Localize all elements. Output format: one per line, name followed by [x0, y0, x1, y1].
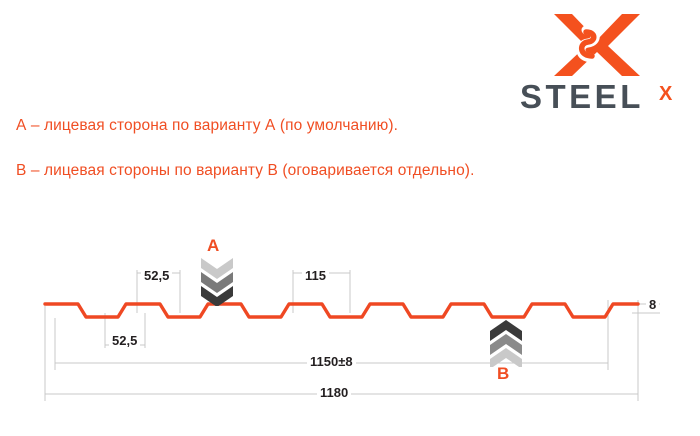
note-variant-a: А – лицевая сторона по варианту А (по ум… — [16, 117, 398, 135]
wordmark-superscript-x: X — [659, 83, 673, 105]
variant-b-letter: В — [497, 364, 509, 384]
note-variant-b: В – лицевая стороны по варианту В (огова… — [16, 162, 474, 180]
dimension-effective-width: 1150±8 — [307, 355, 356, 369]
steelx-wordmark: STEEL X — [520, 78, 688, 116]
brand-logo: STEEL X — [520, 12, 688, 116]
dimension-crest-pitch: 115 — [302, 269, 329, 283]
dimension-sheet-height: 8 — [646, 298, 659, 312]
variant-a-chevrons-down-icon — [198, 256, 236, 306]
variant-b-chevrons-up-icon — [487, 319, 525, 367]
corrugated-profile-path — [45, 304, 638, 317]
dimension-rib-pitch-bottom: 52,5 — [109, 334, 140, 348]
dimension-total-width: 1180 — [317, 386, 351, 400]
steelx-x-mark-icon — [552, 12, 642, 78]
wordmark-text: STEEL — [520, 78, 644, 115]
dimension-rib-pitch-top: 52,5 — [141, 269, 172, 283]
variant-a-letter: А — [207, 236, 219, 256]
